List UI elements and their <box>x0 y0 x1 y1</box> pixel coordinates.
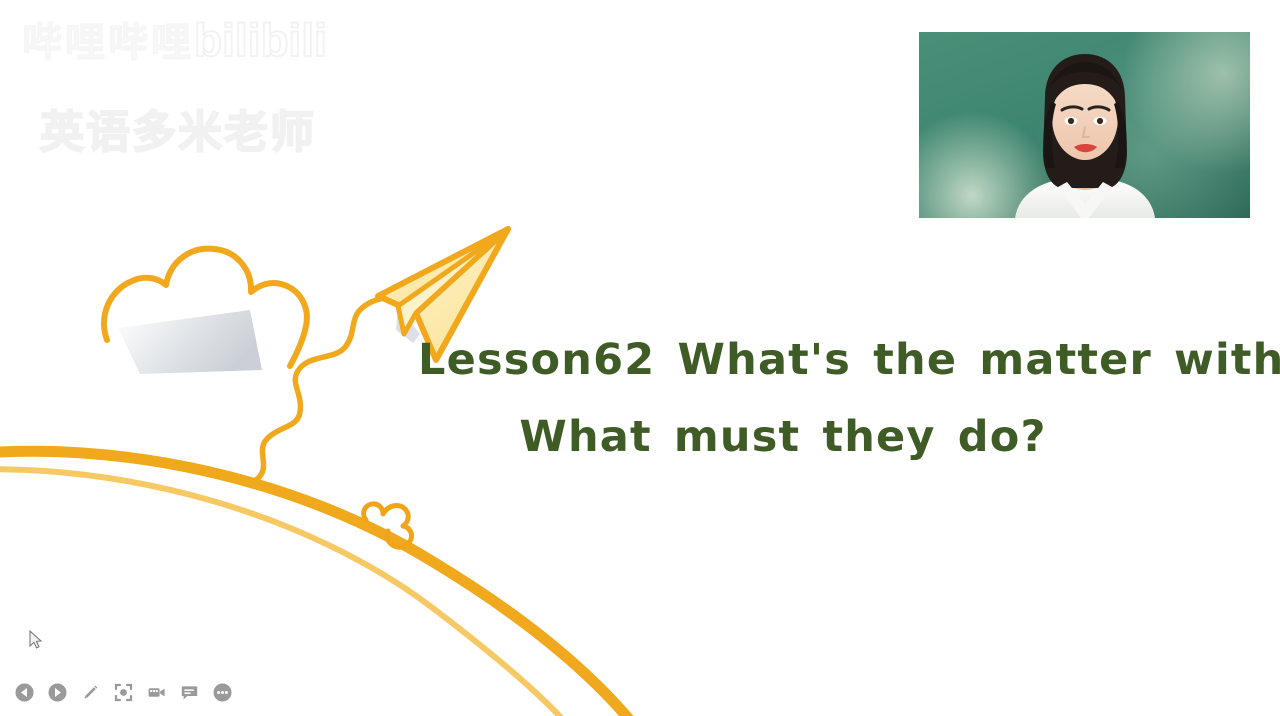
cloud <box>104 249 307 366</box>
comment-icon[interactable] <box>180 683 199 702</box>
slide-canvas: 哔哩哔哩bilibili 英语多米老师 <box>0 0 1280 716</box>
webcam-person <box>919 32 1250 218</box>
teacher-watermark: 英语多米老师 <box>40 96 316 160</box>
more-icon[interactable] <box>213 683 232 702</box>
pencil-icon[interactable] <box>81 683 100 702</box>
paper-airplane-shadow <box>396 306 420 343</box>
title-line-2: What must they do? <box>418 399 1268 476</box>
watermark-bilibili-logo: bilibili <box>194 14 327 66</box>
teacher-webcam[interactable] <box>919 32 1250 218</box>
screenshot-icon[interactable] <box>114 683 133 702</box>
previous-icon[interactable] <box>15 683 34 702</box>
title-line-1: Lesson62 What's the matter with them? <box>418 322 1268 399</box>
cloud-small <box>364 504 412 547</box>
planet-arc-outer <box>0 451 650 716</box>
mouse-pointer <box>29 630 43 650</box>
watermark-brand-prefix: 哔哩哔哩 <box>22 21 194 65</box>
cloud-shadow <box>118 310 262 374</box>
planet-arc-inner <box>0 469 590 716</box>
video-camera-icon[interactable] <box>147 683 166 702</box>
wavy-trail <box>256 298 392 480</box>
bilibili-watermark: 哔哩哔哩bilibili <box>22 10 327 68</box>
player-toolbar[interactable] <box>15 683 232 702</box>
play-icon[interactable] <box>48 683 67 702</box>
slide-title: Lesson62 What's the matter with them? Wh… <box>418 322 1268 476</box>
